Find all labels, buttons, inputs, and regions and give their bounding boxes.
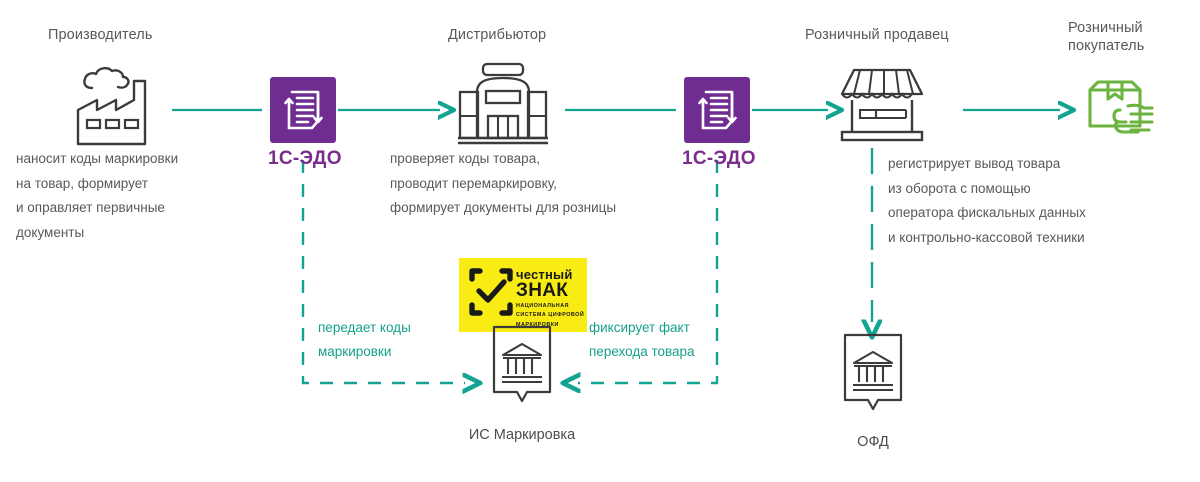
flow-label-transmit-codes: передает коды маркировки xyxy=(318,316,458,365)
node-title-manufacturer: Производитель xyxy=(48,26,153,44)
node-title-distributor: Дистрибьютор xyxy=(448,26,546,44)
package-hand-icon xyxy=(1084,72,1162,144)
chestny-znak-logo: честный ЗНАК НАЦИОНАЛЬНАЯ СИСТЕМА ЦИФРОВ… xyxy=(459,258,587,332)
scan-check-icon xyxy=(467,267,515,317)
warehouse-icon xyxy=(455,60,551,144)
edo-icon-1[interactable] xyxy=(270,77,336,143)
diagram-canvas: Производитель наносит коды маркировки на… xyxy=(0,0,1200,482)
description-distributor: проверяет коды товара, проводит перемарк… xyxy=(390,147,700,221)
description-manufacturer: наносит коды маркировки на товар, формир… xyxy=(16,147,266,245)
description-retailer: регистрирует вывод товара из оборота с п… xyxy=(888,152,1188,250)
flow-label-record-transfer: фиксирует факт перехода товара xyxy=(589,316,749,365)
caption-is-markirovka: ИС Маркировка xyxy=(452,427,592,443)
node-title-buyer: Розничный покупатель xyxy=(1068,19,1144,55)
node-title-retailer: Розничный продавец xyxy=(805,26,949,44)
document-exchange-icon xyxy=(695,87,739,133)
logo-word-znak: ЗНАК xyxy=(516,280,568,302)
document-exchange-icon xyxy=(281,87,325,133)
shield-bank-icon-ofd xyxy=(840,330,906,420)
edo-label-2: 1С-ЭДО xyxy=(682,148,756,170)
edo-icon-2[interactable] xyxy=(684,77,750,143)
factory-icon xyxy=(66,58,172,150)
shield-bank-icon-is-markirovka xyxy=(489,322,555,412)
caption-ofd: ОФД xyxy=(818,434,928,450)
edo-label-1: 1С-ЭДО xyxy=(268,148,342,170)
shop-icon xyxy=(836,62,928,144)
